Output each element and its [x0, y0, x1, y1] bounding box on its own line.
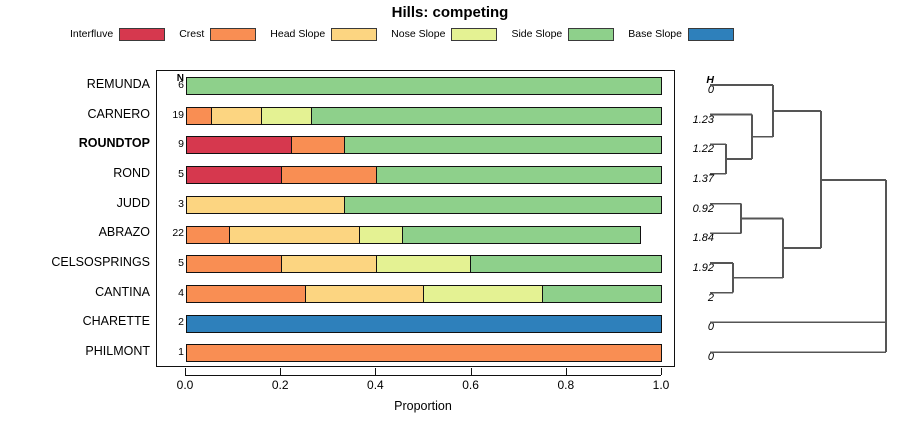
stacked-bar — [186, 226, 641, 244]
bar-segment — [377, 167, 661, 183]
legend-label-crest: Crest — [179, 28, 204, 40]
legend-swatch-interfluve — [119, 28, 165, 41]
legend-label-interfluve: Interfluve — [70, 28, 113, 40]
legend-swatch-crest — [210, 28, 256, 41]
x-tick-label: 0.6 — [451, 378, 491, 392]
x-tick — [661, 368, 662, 375]
bar-segment — [377, 256, 472, 272]
legend-label-side-slope: Side Slope — [511, 28, 562, 40]
n-value: 19 — [157, 109, 184, 121]
bar-segment — [187, 316, 661, 332]
x-tick-label: 1.0 — [641, 378, 681, 392]
stacked-bar — [186, 77, 662, 95]
legend-label-nose-slope: Nose Slope — [391, 28, 445, 40]
bar-segment — [187, 137, 292, 153]
n-value: 2 — [157, 316, 184, 328]
n-value: 22 — [157, 227, 184, 239]
dendrogram — [690, 70, 900, 367]
bar-segment — [424, 286, 543, 302]
n-value: 5 — [157, 257, 184, 269]
legend-label-base-slope: Base Slope — [628, 28, 682, 40]
y-axis-label-rond: ROND — [0, 166, 150, 180]
legend-swatch-head-slope — [331, 28, 377, 41]
legend-item-nose-slope: Nose Slope — [391, 28, 497, 41]
stacked-bar — [186, 107, 662, 125]
y-axis-label-abrazo: ABRAZO — [0, 225, 150, 239]
bar-row: 2 — [157, 309, 676, 339]
plot-panel: N 619953225421 — [156, 70, 675, 367]
bar-segment — [471, 256, 661, 272]
bar-segment — [543, 286, 662, 302]
y-axis-label-judd: JUDD — [0, 196, 150, 210]
legend-item-crest: Crest — [179, 28, 256, 41]
chart-title: Hills: competing — [0, 4, 900, 21]
legend-item-head-slope: Head Slope — [270, 28, 377, 41]
y-axis-label-remunda: REMUNDA — [0, 77, 150, 91]
bar-row: 5 — [157, 160, 676, 190]
n-value: 5 — [157, 168, 184, 180]
bar-segment — [187, 108, 212, 124]
legend-item-base-slope: Base Slope — [628, 28, 734, 41]
x-tick — [471, 368, 472, 375]
x-tick-label: 0.8 — [546, 378, 586, 392]
bar-segment — [230, 227, 359, 243]
bar-row: 1 — [157, 338, 676, 368]
bar-row: 19 — [157, 101, 676, 131]
bar-segment — [403, 227, 640, 243]
x-tick-label: 0.2 — [260, 378, 300, 392]
n-value: 1 — [157, 346, 184, 358]
y-axis-label-cantina: CANTINA — [0, 285, 150, 299]
legend-item-interfluve: Interfluve — [70, 28, 165, 41]
n-value: 6 — [157, 79, 184, 91]
bar-segment — [262, 108, 312, 124]
y-axis-label-celsosprings: CELSOSPRINGS — [0, 255, 150, 269]
stacked-bar — [186, 255, 662, 273]
stacked-bar — [186, 344, 662, 362]
x-tick — [566, 368, 567, 375]
y-axis-label-charette: CHARETTE — [0, 314, 150, 328]
bar-segment — [312, 108, 661, 124]
n-value: 4 — [157, 287, 184, 299]
stacked-bar — [186, 196, 662, 214]
legend-label-head-slope: Head Slope — [270, 28, 325, 40]
stacked-bar — [186, 166, 662, 184]
bar-segment — [360, 227, 403, 243]
bar-row: 6 — [157, 71, 676, 101]
stacked-bar — [186, 136, 662, 154]
x-tick-label: 0.0 — [165, 378, 205, 392]
x-tick-label: 0.4 — [355, 378, 395, 392]
legend-item-side-slope: Side Slope — [511, 28, 614, 41]
x-axis-line — [185, 375, 661, 376]
bar-segment — [282, 256, 377, 272]
legend-swatch-side-slope — [568, 28, 614, 41]
bar-segment — [345, 137, 661, 153]
bar-segment — [187, 197, 345, 213]
bar-segment — [187, 78, 661, 94]
stacked-bar — [186, 285, 662, 303]
bar-segment — [187, 286, 306, 302]
x-tick — [280, 368, 281, 375]
bar-segment — [345, 197, 661, 213]
y-axis-label-roundtop: ROUNDTOP — [0, 136, 150, 150]
dendrogram-svg — [690, 70, 900, 367]
bar-segment — [187, 227, 230, 243]
legend: Interfluve Crest Head Slope Nose Slope S… — [70, 26, 830, 42]
n-value: 3 — [157, 198, 184, 210]
n-value: 9 — [157, 138, 184, 150]
y-axis-label-philmont: PHILMONT — [0, 344, 150, 358]
y-axis-label-carnero: CARNERO — [0, 107, 150, 121]
stacked-bar — [186, 315, 662, 333]
bar-row: 22 — [157, 220, 676, 250]
x-tick — [375, 368, 376, 375]
bar-segment — [212, 108, 262, 124]
bar-segment — [282, 167, 377, 183]
bar-row: 3 — [157, 190, 676, 220]
bar-segment — [306, 286, 425, 302]
bar-row: 4 — [157, 279, 676, 309]
legend-swatch-base-slope — [688, 28, 734, 41]
x-tick — [185, 368, 186, 375]
bar-segment — [292, 137, 345, 153]
bar-row: 5 — [157, 249, 676, 279]
x-axis-title: Proportion — [185, 399, 661, 413]
bar-segment — [187, 345, 661, 361]
legend-swatch-nose-slope — [451, 28, 497, 41]
bar-segment — [187, 167, 282, 183]
bar-row: 9 — [157, 130, 676, 160]
bar-segment — [187, 256, 282, 272]
chart-root: Hills: competing Interfluve Crest Head S… — [0, 0, 900, 440]
